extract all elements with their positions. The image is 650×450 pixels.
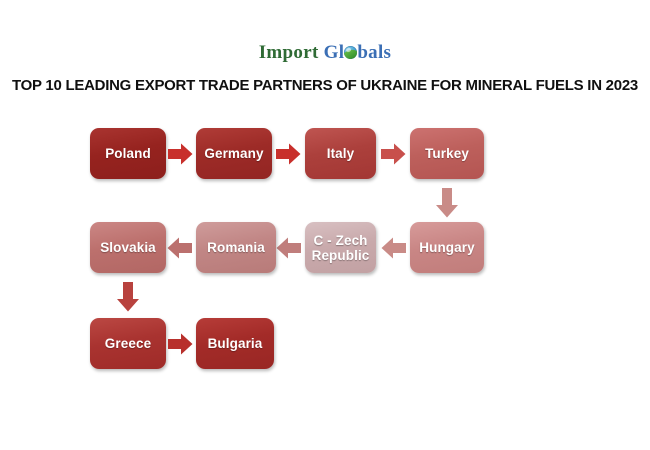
node-bulgaria[interactable]: Bulgaria xyxy=(196,318,274,369)
node-hungary[interactable]: Hungary xyxy=(410,222,484,273)
arrow-poland-germany xyxy=(168,143,193,165)
node-romania[interactable]: Romania xyxy=(196,222,276,273)
node-label: Slovakia xyxy=(100,240,156,255)
arrow-romania-slovakia xyxy=(167,237,192,259)
node-label: Turkey xyxy=(425,146,469,161)
node-label: Romania xyxy=(207,240,265,255)
arrow-slovakia-greece xyxy=(116,282,140,312)
node-label: C - Zech Republic xyxy=(312,233,370,263)
node-slovakia[interactable]: Slovakia xyxy=(90,222,166,273)
flow-diagram: Poland Germany Italy Turkey Hungary xyxy=(0,0,650,450)
node-germany[interactable]: Germany xyxy=(196,128,272,179)
node-greece[interactable]: Greece xyxy=(90,318,166,369)
arrow-germany-italy xyxy=(276,143,301,165)
node-label: Greece xyxy=(105,336,151,351)
node-czech-republic[interactable]: C - Zech Republic xyxy=(305,222,376,273)
arrow-greece-bulgaria xyxy=(168,333,193,355)
node-label: Germany xyxy=(204,146,263,161)
node-label: Poland xyxy=(105,146,151,161)
arrow-czech-romania xyxy=(276,237,301,259)
node-label: Hungary xyxy=(419,240,474,255)
arrow-italy-turkey xyxy=(381,143,406,165)
node-turkey[interactable]: Turkey xyxy=(410,128,484,179)
node-italy[interactable]: Italy xyxy=(305,128,376,179)
arrow-turkey-hungary xyxy=(435,188,459,218)
node-label: Bulgaria xyxy=(208,336,263,351)
arrow-hungary-czech xyxy=(381,237,406,259)
node-poland[interactable]: Poland xyxy=(90,128,166,179)
node-label: Italy xyxy=(327,146,355,161)
